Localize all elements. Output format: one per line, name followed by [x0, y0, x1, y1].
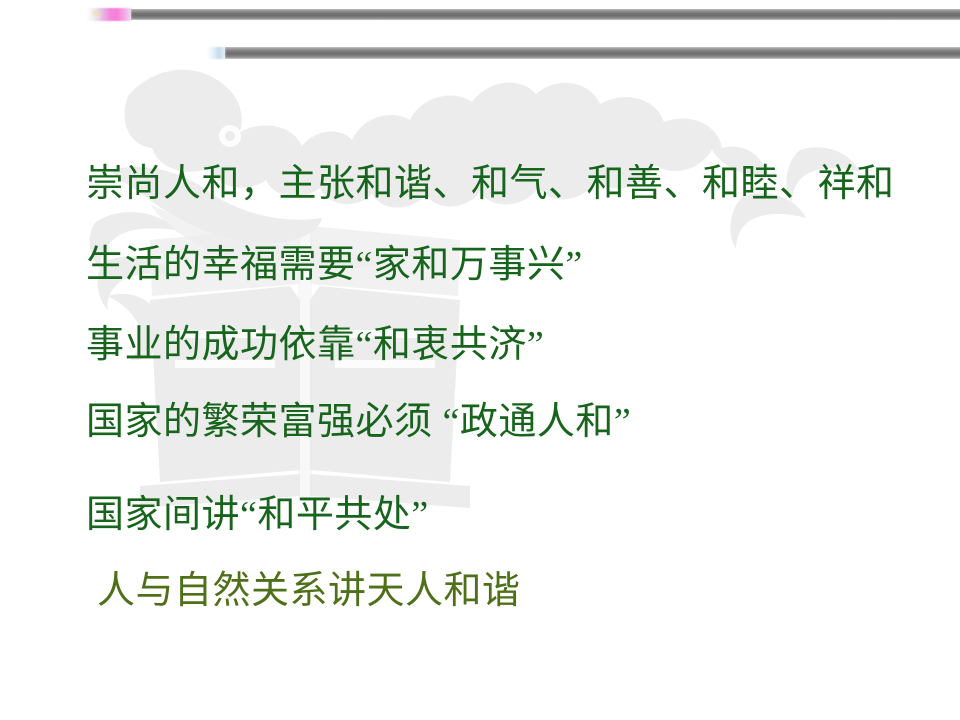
body-line-6: 人与自然关系讲天人和谐 [97, 559, 521, 614]
body-line-3: 事业的成功依靠“和衷共济” [86, 313, 544, 368]
body-line-2: 生活的幸福需要“家和万事兴” [86, 233, 583, 288]
slide-body: 崇尚人和，主张和谐、和气、和善、和睦、祥和 生活的幸福需要“家和万事兴” 事业的… [0, 0, 960, 720]
body-line-1: 崇尚人和，主张和谐、和气、和善、和睦、祥和 [86, 152, 895, 207]
body-line-5: 国家间讲“和平共处” [86, 483, 429, 538]
body-line-4: 国家的繁荣富强必须 “政通人和” [86, 390, 631, 445]
presentation-slide: 崇尚人和，主张和谐、和气、和善、和睦、祥和 生活的幸福需要“家和万事兴” 事业的… [0, 0, 960, 720]
